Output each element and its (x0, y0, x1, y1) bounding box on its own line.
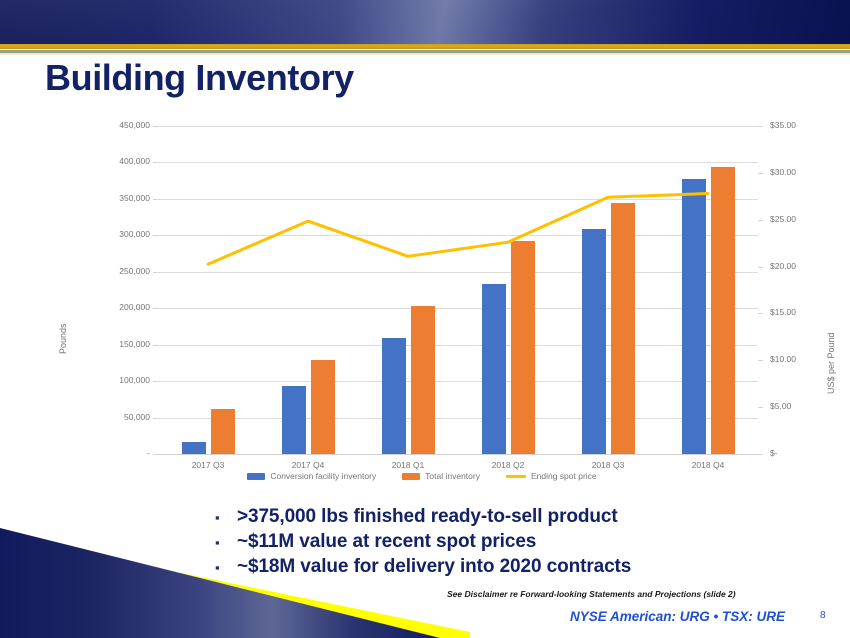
line-series-ending-spot-price (158, 126, 758, 454)
banner-sheen (0, 0, 850, 44)
y2-axis-tick-label: $10.00 (770, 354, 796, 364)
slide-canvas: Building Inventory Pounds US$ per Pound … (0, 0, 850, 638)
page-title: Building Inventory (45, 57, 354, 99)
y-axis-tick-label: 50,000 (98, 412, 150, 422)
legend-item[interactable]: Conversion facility inventory (247, 471, 376, 481)
y2-axis-tick-label: $5.00 (770, 401, 791, 411)
ticker-text: NYSE American: URG • TSX: URE (570, 609, 785, 624)
disclaimer-text: See Disclaimer re Forward-looking Statem… (447, 589, 736, 599)
y-axis-tick-label: 200,000 (98, 302, 150, 312)
y-axis-tick-label: 100,000 (98, 375, 150, 385)
bullet-text: >375,000 lbs finished ready-to-sell prod… (237, 506, 618, 528)
bullet-marker-icon: ▪ (215, 511, 237, 524)
y2-tick-mark (758, 313, 763, 314)
legend-swatch-icon (247, 473, 265, 480)
y2-axis-tick-label: $30.00 (770, 167, 796, 177)
y-axis-tick-label: 250,000 (98, 266, 150, 276)
axis-baseline (158, 454, 758, 455)
legend-label: Conversion facility inventory (270, 471, 376, 481)
y-axis-tick-label: 300,000 (98, 229, 150, 239)
y2-axis-label: US$ per Pound (826, 332, 836, 394)
legend-item[interactable]: Total inventory (402, 471, 480, 481)
legend-swatch-icon (506, 475, 526, 478)
y-axis-tick-label: 450,000 (98, 120, 150, 130)
y-axis-tick-label: 400,000 (98, 156, 150, 166)
y-axis-label: Pounds (58, 323, 68, 354)
legend-label: Total inventory (425, 471, 480, 481)
legend-item[interactable]: Ending spot price (506, 471, 597, 481)
stripe-base (0, 53, 850, 55)
chart: Pounds US$ per Pound -50,000100,000150,0… (36, 114, 826, 494)
header-banner (0, 0, 850, 44)
y2-tick-mark (758, 126, 763, 127)
y2-axis-tick-label: $15.00 (770, 307, 796, 317)
legend-swatch-icon (402, 473, 420, 480)
y2-tick-mark (758, 267, 763, 268)
y2-axis-tick-label: $25.00 (770, 214, 796, 224)
plot-region: -50,000100,000150,000200,000250,000300,0… (158, 126, 758, 454)
y-tick-mark (153, 454, 158, 455)
y2-axis-tick-label: $35.00 (770, 120, 796, 130)
y-axis-tick-label: - (98, 448, 150, 458)
y2-axis-tick-label: $- (770, 448, 778, 458)
y-axis-tick-label: 350,000 (98, 193, 150, 203)
y2-tick-mark (758, 173, 763, 174)
y2-tick-mark (758, 407, 763, 408)
page-number: 8 (820, 610, 826, 621)
y-axis-tick-label: 150,000 (98, 339, 150, 349)
y2-axis-tick-label: $20.00 (770, 261, 796, 271)
y2-tick-mark (758, 454, 763, 455)
bullet-item: ▪>375,000 lbs finished ready-to-sell pro… (215, 506, 631, 528)
bottom-wedge-decoration (0, 528, 470, 638)
chart-legend: Conversion facility inventoryTotal inven… (122, 468, 722, 484)
legend-label: Ending spot price (531, 471, 597, 481)
y2-tick-mark (758, 360, 763, 361)
y2-tick-mark (758, 220, 763, 221)
